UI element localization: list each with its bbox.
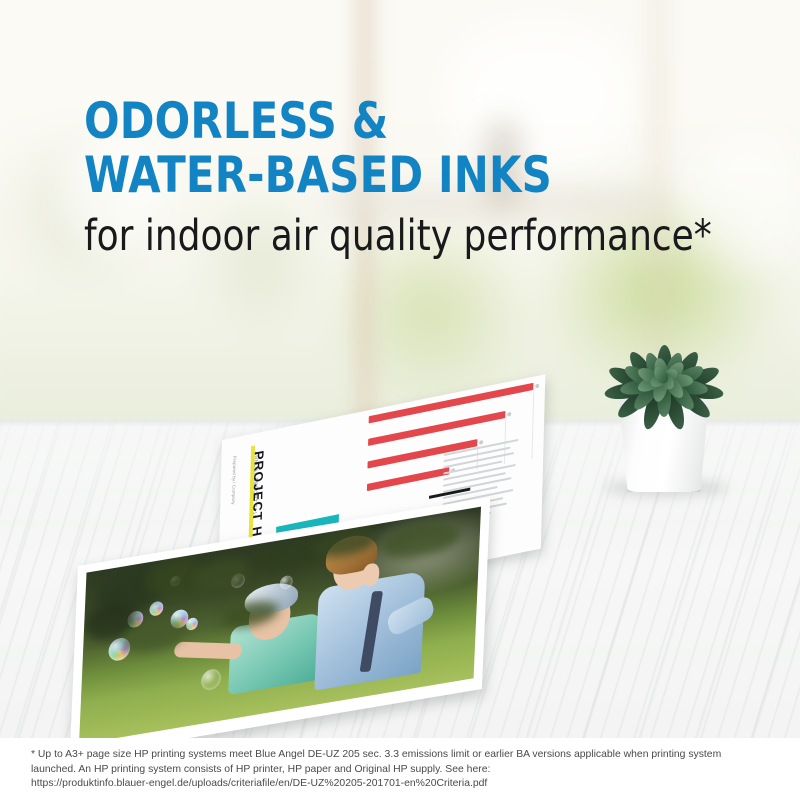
foliage-blur: [253, 537, 323, 577]
headline-line-2: WATER-BASED INKS: [84, 148, 698, 202]
footer-line-1: * Up to A3+ page size HP printing system…: [31, 748, 771, 763]
marketing-banner: ODORLESS & WATER-BASED INKS for indoor a…: [0, 0, 800, 800]
succulent-plant: [600, 308, 728, 498]
brochure-corner-note: Prepared by / Company: [231, 455, 237, 505]
headline-block: ODORLESS & WATER-BASED INKS for indoor a…: [84, 94, 744, 260]
soap-bubble: [186, 617, 198, 631]
boy-arm: [173, 642, 244, 660]
headline-line-1: ODORLESS &: [84, 94, 698, 148]
footer-disclaimer: * Up to A3+ page size HP printing system…: [0, 738, 800, 800]
chart-bar: [367, 467, 450, 491]
footer-line-2: launched. An HP printing system consists…: [31, 763, 771, 778]
foliage-blur: [193, 556, 250, 596]
foliage-blur: [381, 516, 461, 564]
headline-subtitle: for indoor air quality performance*: [84, 212, 698, 260]
soap-bubble: [201, 668, 222, 692]
footer-line-3: https://produktinfo.blauer-engel.de/uplo…: [31, 777, 771, 792]
chart-bar-endpoint: [479, 440, 483, 445]
chart-bar-endpoint: [507, 412, 511, 417]
chart-bar-endpoint: [535, 384, 539, 389]
chart-gridline: [531, 383, 534, 459]
